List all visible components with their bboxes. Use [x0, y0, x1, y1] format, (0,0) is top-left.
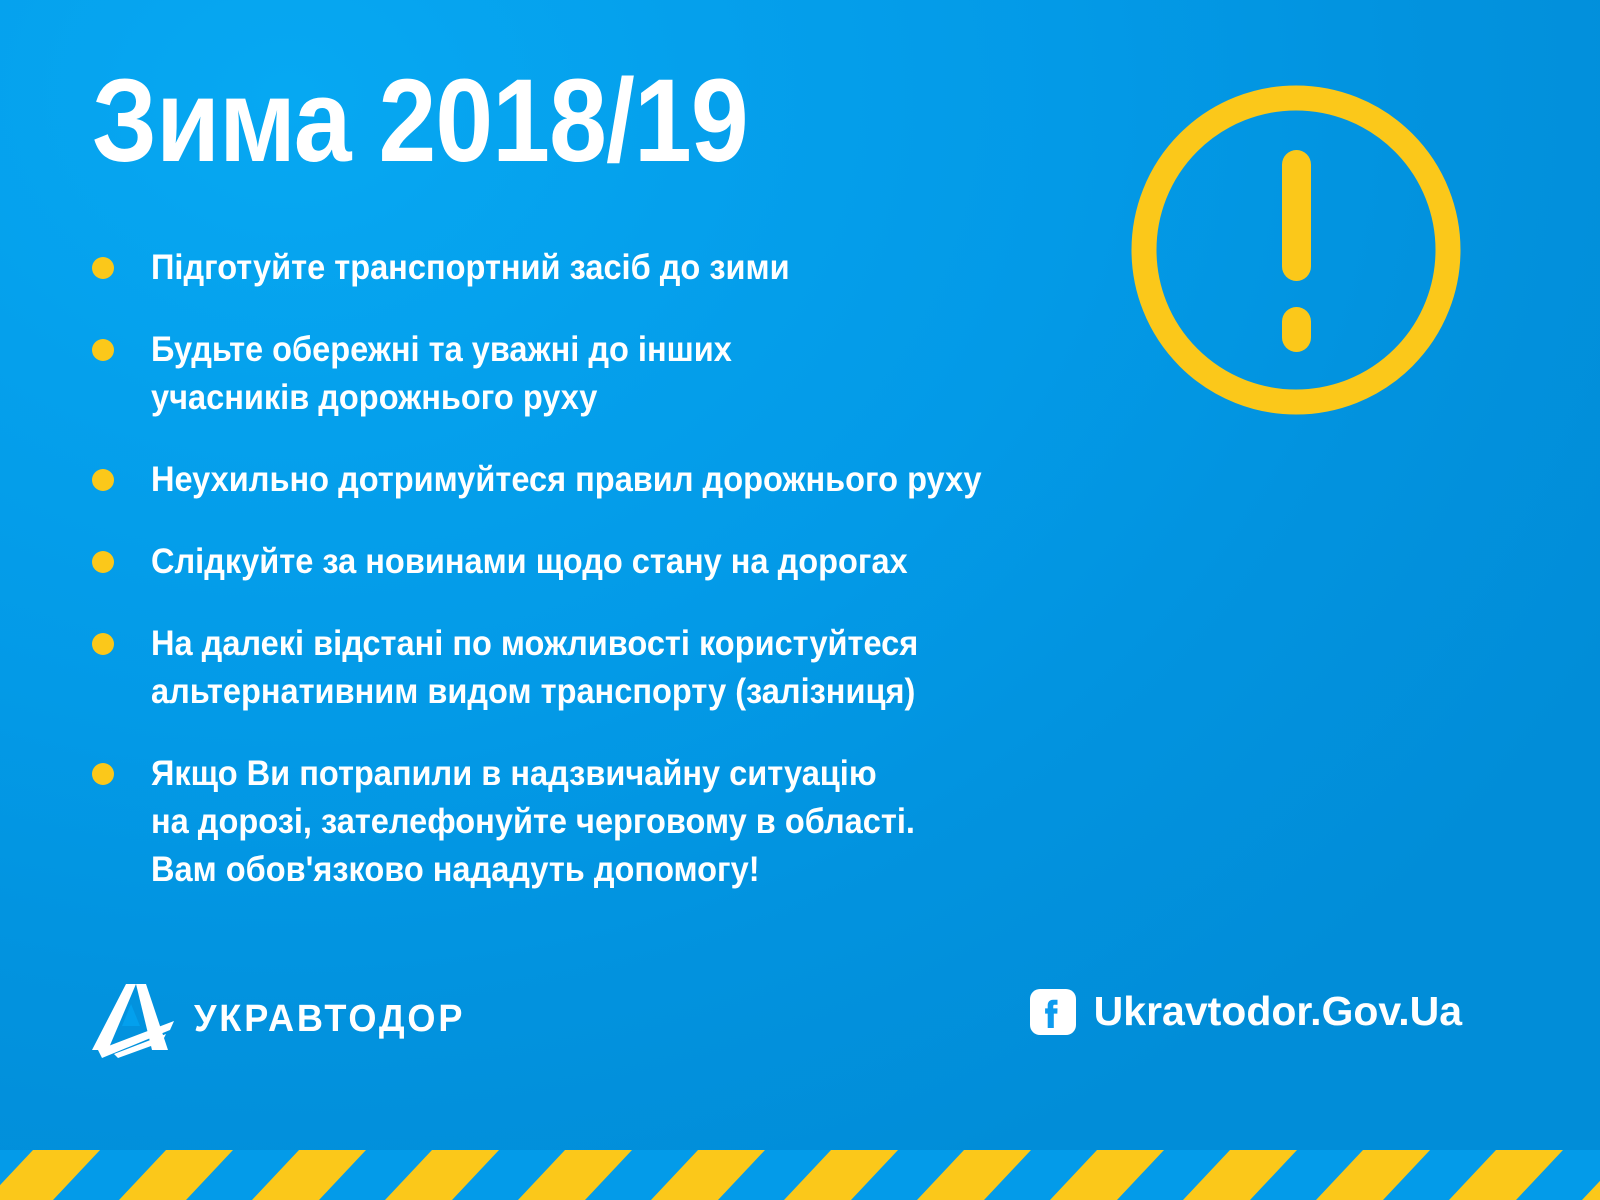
- list-item: Якщо Ви потрапили в надзвичайну ситуацію…: [92, 750, 1102, 894]
- list-item-label: Якщо Ви потрапили в надзвичайну ситуацію…: [151, 750, 915, 894]
- bullet-dot-icon: [92, 257, 114, 279]
- safety-tips-list: Підготуйте транспортний засіб до зими Бу…: [92, 244, 1102, 928]
- list-item: Слідкуйте за новинами щодо стану на доро…: [92, 538, 1102, 586]
- brand-logo: УКРАВТОДОР: [88, 978, 480, 1060]
- ukravtodor-logo-icon: [88, 978, 174, 1060]
- social-link[interactable]: Ukravtodor.Gov.Ua: [1030, 988, 1462, 1035]
- list-item: На далекі відстані по можливості користу…: [92, 620, 1102, 716]
- list-item-label: Неухильно дотримуйтеся правил дорожнього…: [151, 456, 982, 504]
- list-item: Підготуйте транспортний засіб до зими: [92, 244, 1102, 292]
- bullet-dot-icon: [92, 551, 114, 573]
- page-title: Зима 2018/19: [92, 62, 748, 180]
- bullet-dot-icon: [92, 339, 114, 361]
- hazard-stripe-pattern: [0, 1150, 1600, 1200]
- bullet-dot-icon: [92, 763, 114, 785]
- exclamation-circle-icon: [1128, 82, 1464, 418]
- list-item-label: Підготуйте транспортний засіб до зими: [151, 244, 790, 292]
- winter-safety-poster: Зима 2018/19 Підготуйте транспортний зас…: [0, 0, 1600, 1200]
- list-item: Будьте обережні та уважні до інших учасн…: [92, 326, 1102, 422]
- bullet-dot-icon: [92, 469, 114, 491]
- list-item-label: На далекі відстані по можливості користу…: [151, 620, 918, 716]
- bullet-dot-icon: [92, 633, 114, 655]
- hazard-stripe-border: [0, 1150, 1600, 1200]
- list-item-label: Будьте обережні та уважні до інших учасн…: [151, 326, 732, 422]
- list-item: Неухильно дотримуйтеся правил дорожнього…: [92, 456, 1102, 504]
- list-item-label: Слідкуйте за новинами щодо стану на доро…: [151, 538, 908, 586]
- brand-name-label: УКРАВТОДОР: [194, 998, 465, 1041]
- facebook-icon[interactable]: [1030, 989, 1076, 1035]
- website-url-label[interactable]: Ukravtodor.Gov.Ua: [1094, 988, 1462, 1035]
